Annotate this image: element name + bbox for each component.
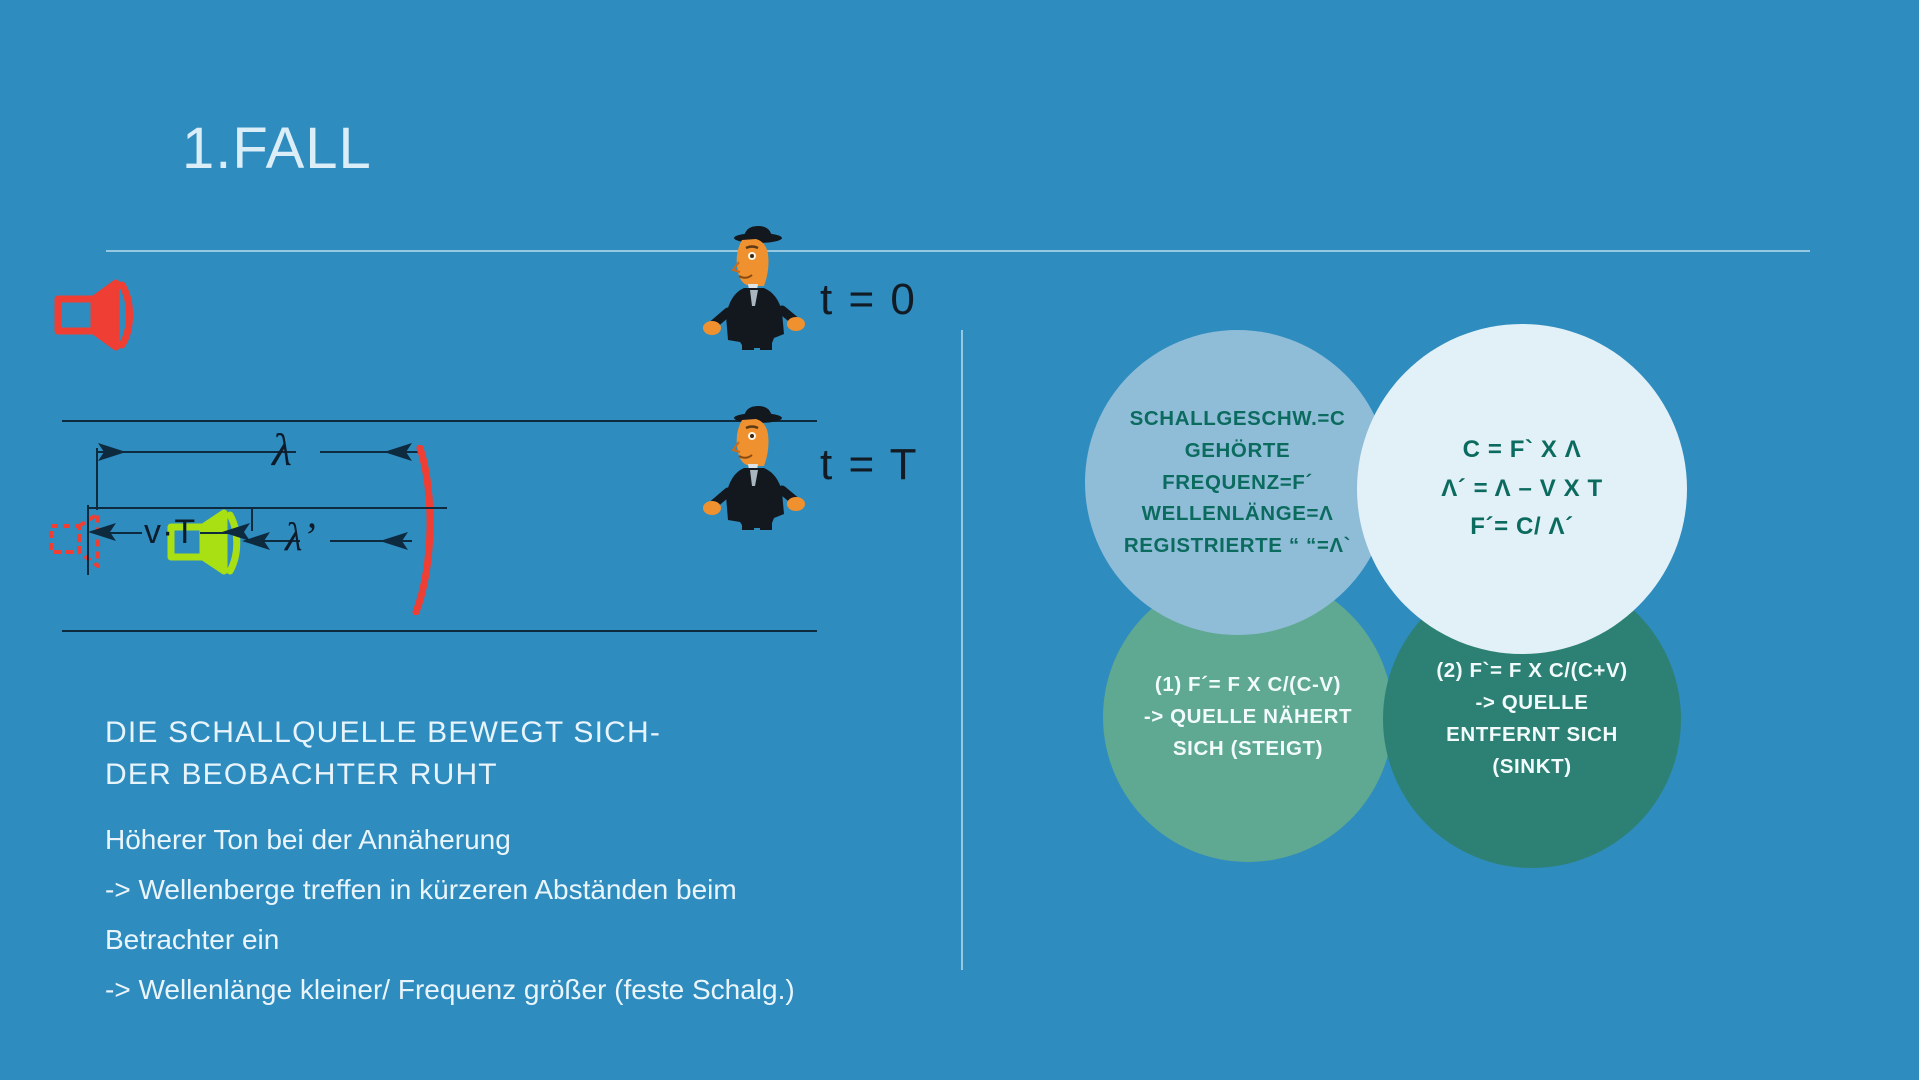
definition-line-2: GEHÖRTE — [1091, 435, 1384, 467]
circle-definitions-text: SCHALLGESCHW.=C GEHÖRTE FREQUENZ=F´ WELL… — [1085, 403, 1390, 562]
wavefront-arc — [404, 445, 440, 615]
slide-root: 1.FALL λ — [0, 0, 1919, 1080]
vt-right-arrowhead — [222, 520, 256, 544]
vertical-divider — [961, 330, 963, 970]
vt-base-line — [87, 507, 447, 509]
definition-line-1: SCHALLGESCHW.=C — [1091, 403, 1384, 435]
definition-line-3: FREQUENZ=F´ — [1091, 467, 1384, 499]
circle-case-receding-text: (2) F`= F X C/(C+V) -> QUELLE ENTFERNT S… — [1411, 655, 1653, 782]
case2-line-1: (2) F`= F X C/(C+V) — [1417, 655, 1647, 687]
observer-figure-tT — [700, 400, 810, 535]
doppler-diagram: λ — [0, 255, 950, 685]
formula-circles-group: (1) F´= F X C/(C-V) -> QUELLE NÄHERT SIC… — [1085, 330, 1725, 880]
vt-label: v·T — [144, 513, 196, 552]
vt-left-arrow-line — [108, 532, 142, 534]
definition-line-4: WELLENLÄNGE=Λ — [1091, 498, 1384, 530]
equation-line-1: C = F` X Λ — [1382, 431, 1662, 470]
explanation-line-2: -> Wellenberge treffen in kürzeren Abstä… — [105, 865, 925, 915]
case1-line-2: -> QUELLE NÄHERT SICH (STEIGT) — [1124, 701, 1372, 765]
equation-line-2: Λ´ = Λ – V X T — [1382, 470, 1662, 509]
baseline-bottom — [62, 630, 817, 632]
explanation-line-3: Betrachter ein — [105, 915, 925, 965]
explanation-line-1: Höherer Ton bei der Annäherung — [105, 815, 925, 865]
sound-source-speaker-icon — [52, 275, 134, 353]
circle-equations: C = F` X Λ Λ´ = Λ – V X T F´= C/ Λ´ — [1357, 324, 1687, 654]
page-title: 1.FALL — [182, 115, 372, 182]
case1-line-1: (1) F´= F X C/(C-V) — [1124, 669, 1372, 701]
explanation-line-4: -> Wellenlänge kleiner/ Frequenz größer … — [105, 965, 925, 1015]
circle-definitions: SCHALLGESCHW.=C GEHÖRTE FREQUENZ=F´ WELL… — [1085, 330, 1390, 635]
title-divider — [106, 250, 1810, 252]
explanation-text: Höherer Ton bei der Annäherung -> Wellen… — [105, 815, 925, 1015]
lambda-left-arrowhead — [92, 440, 126, 464]
time-label-tT: t = T — [820, 440, 918, 490]
heading-line-2: DER BEOBACHTER RUHT — [105, 754, 825, 796]
time-label-t0: t = 0 — [820, 275, 917, 325]
heading-line-1: DIE SCHALLQUELLE BEWEGT SICH- — [105, 712, 825, 754]
definition-line-5: REGISTRIERTE “ “=Λ` — [1091, 530, 1384, 562]
section-heading: DIE SCHALLQUELLE BEWEGT SICH- DER BEOBAC… — [105, 712, 825, 796]
case2-line-2: -> QUELLE ENTFERNT SICH (SINKT) — [1417, 687, 1647, 782]
lambda-label: λ — [272, 423, 292, 476]
circle-equations-text: C = F` X Λ Λ´ = Λ – V X T F´= C/ Λ´ — [1376, 431, 1668, 548]
circle-case-approaching-text: (1) F´= F X C/(C-V) -> QUELLE NÄHERT SIC… — [1118, 669, 1378, 764]
lambda-prime-label: λ’ — [285, 513, 316, 560]
lambda-left-arrow-line — [96, 451, 296, 453]
equation-line-3: F´= C/ Λ´ — [1382, 508, 1662, 547]
observer-figure-t0 — [700, 220, 810, 355]
